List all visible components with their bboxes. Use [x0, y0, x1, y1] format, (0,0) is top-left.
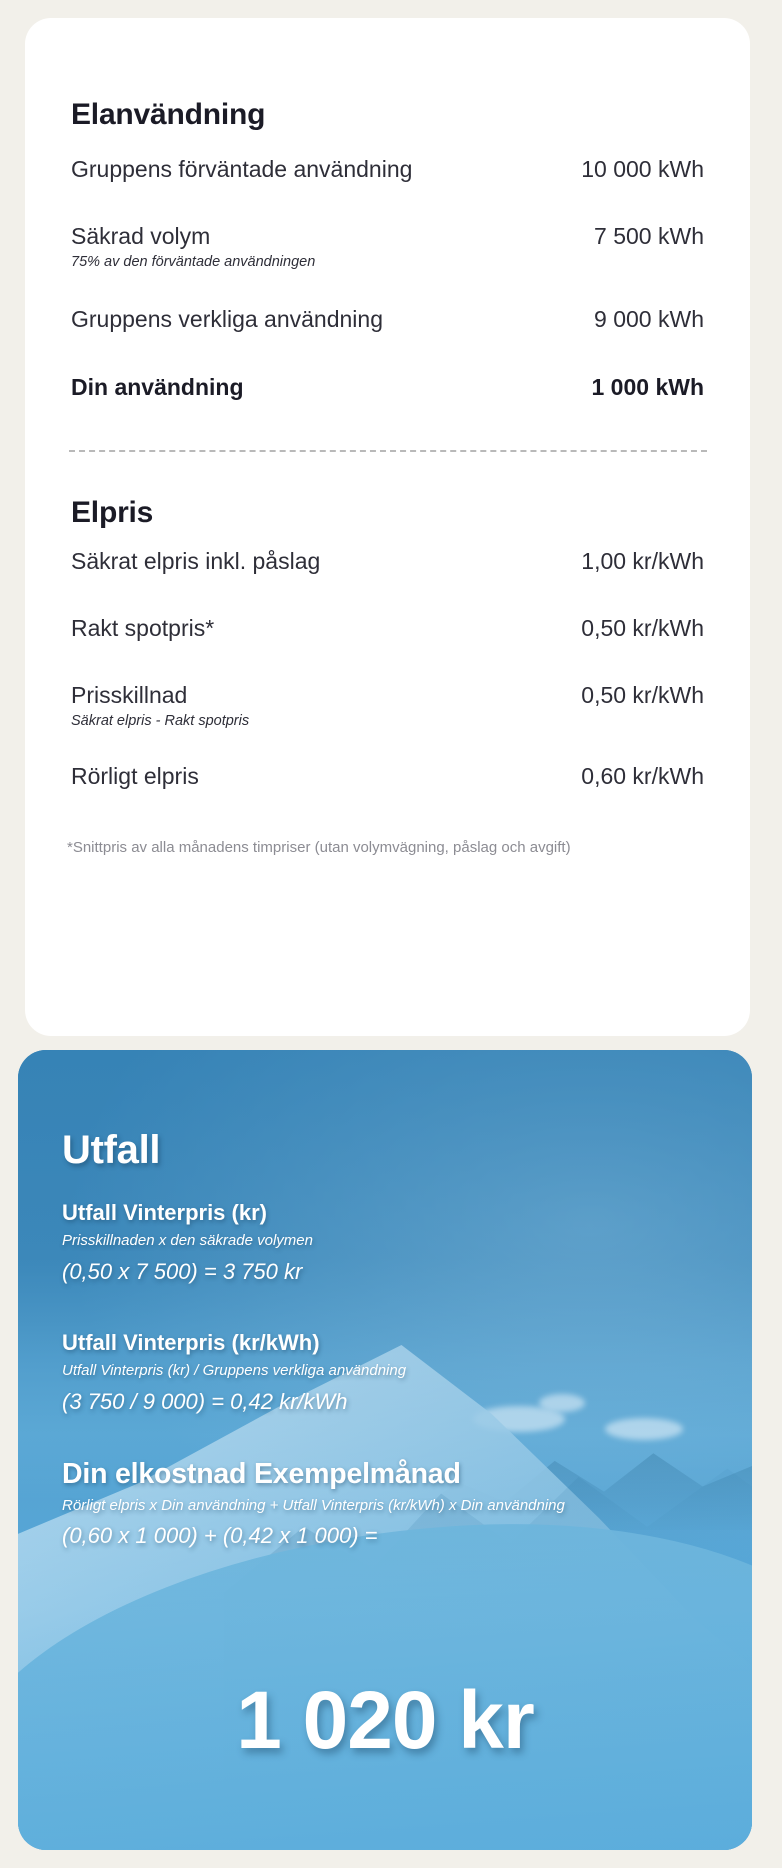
row-value: 9 000 kWh: [594, 306, 704, 334]
row-label: Prisskillnad: [71, 682, 249, 710]
row-value: 0,50 kr/kWh: [581, 682, 704, 710]
block-formula: Prisskillnaden x den säkrade volymen: [62, 1231, 702, 1250]
block-title: Utfall Vinterpris (kr/kWh): [62, 1330, 702, 1356]
block-result: (3 750 / 9 000) = 0,42 kr/kWh: [62, 1388, 702, 1416]
result-heading: Utfall: [62, 1128, 160, 1173]
row-label: Gruppens förväntade användning: [71, 156, 412, 184]
electricity-usage-card: Elanvändning Gruppens förväntade användn…: [25, 18, 750, 1036]
result-card: Utfall Utfall Vinterpris (kr) Prisskilln…: [18, 1050, 752, 1850]
row-value: 0,50 kr/kWh: [581, 615, 704, 643]
grand-total-amount: 1 020 kr: [18, 1680, 752, 1762]
price-row-secured-price: Säkrat elpris inkl. påslag 1,00 kr/kWh: [71, 548, 704, 576]
row-value: 1,00 kr/kWh: [581, 548, 704, 576]
block-formula: Utfall Vinterpris (kr) / Gruppens verkli…: [62, 1361, 702, 1380]
row-value: 7 500 kWh: [594, 223, 704, 251]
block-title: Din elkostnad Exempelmånad: [62, 1457, 702, 1491]
usage-section-heading: Elanvändning: [71, 98, 265, 132]
row-sublabel: 75% av den förväntade användningen: [71, 254, 315, 271]
result-block-winter-price-kr: Utfall Vinterpris (kr) Prisskillnaden x …: [62, 1200, 702, 1285]
price-row-price-difference: Prisskillnad Säkrat elpris - Rakt spotpr…: [71, 682, 704, 730]
price-row-variable-price: Rörligt elpris 0,60 kr/kWh: [71, 763, 704, 791]
row-label: Säkrad volym: [71, 223, 315, 251]
price-section-heading: Elpris: [71, 496, 153, 530]
block-result: (0,50 x 7 500) = 3 750 kr: [62, 1258, 702, 1286]
block-result: (0,60 x 1 000) + (0,42 x 1 000) =: [62, 1522, 702, 1550]
row-sublabel: Säkrat elpris - Rakt spotpris: [71, 713, 249, 730]
block-formula: Rörligt elpris x Din användning + Utfall…: [62, 1496, 702, 1515]
row-label: Säkrat elpris inkl. påslag: [71, 548, 320, 576]
row-label: Gruppens verkliga användning: [71, 306, 383, 334]
result-block-your-cost: Din elkostnad Exempelmånad Rörligt elpri…: [62, 1457, 702, 1550]
spot-price-footnote: *Snittpris av alla månadens timpriser (u…: [67, 838, 717, 858]
usage-row-expected: Gruppens förväntade användning 10 000 kW…: [71, 156, 704, 184]
section-divider: [69, 450, 707, 452]
result-block-winter-price-kwh: Utfall Vinterpris (kr/kWh) Utfall Vinter…: [62, 1330, 702, 1415]
row-value: 1 000 kWh: [592, 374, 705, 402]
result-card-content: Utfall Utfall Vinterpris (kr) Prisskilln…: [18, 1050, 752, 1850]
row-label: Din användning: [71, 374, 244, 402]
usage-row-actual: Gruppens verkliga användning 9 000 kWh: [71, 306, 704, 334]
price-row-spot-price: Rakt spotpris* 0,50 kr/kWh: [71, 615, 704, 643]
block-title: Utfall Vinterpris (kr): [62, 1200, 702, 1226]
row-label: Rörligt elpris: [71, 763, 199, 791]
row-label: Rakt spotpris*: [71, 615, 214, 643]
row-value: 10 000 kWh: [581, 156, 704, 184]
row-value: 0,60 kr/kWh: [581, 763, 704, 791]
usage-row-your-usage: Din användning 1 000 kWh: [71, 374, 704, 402]
usage-row-secured-volume: Säkrad volym 75% av den förväntade använ…: [71, 223, 704, 271]
